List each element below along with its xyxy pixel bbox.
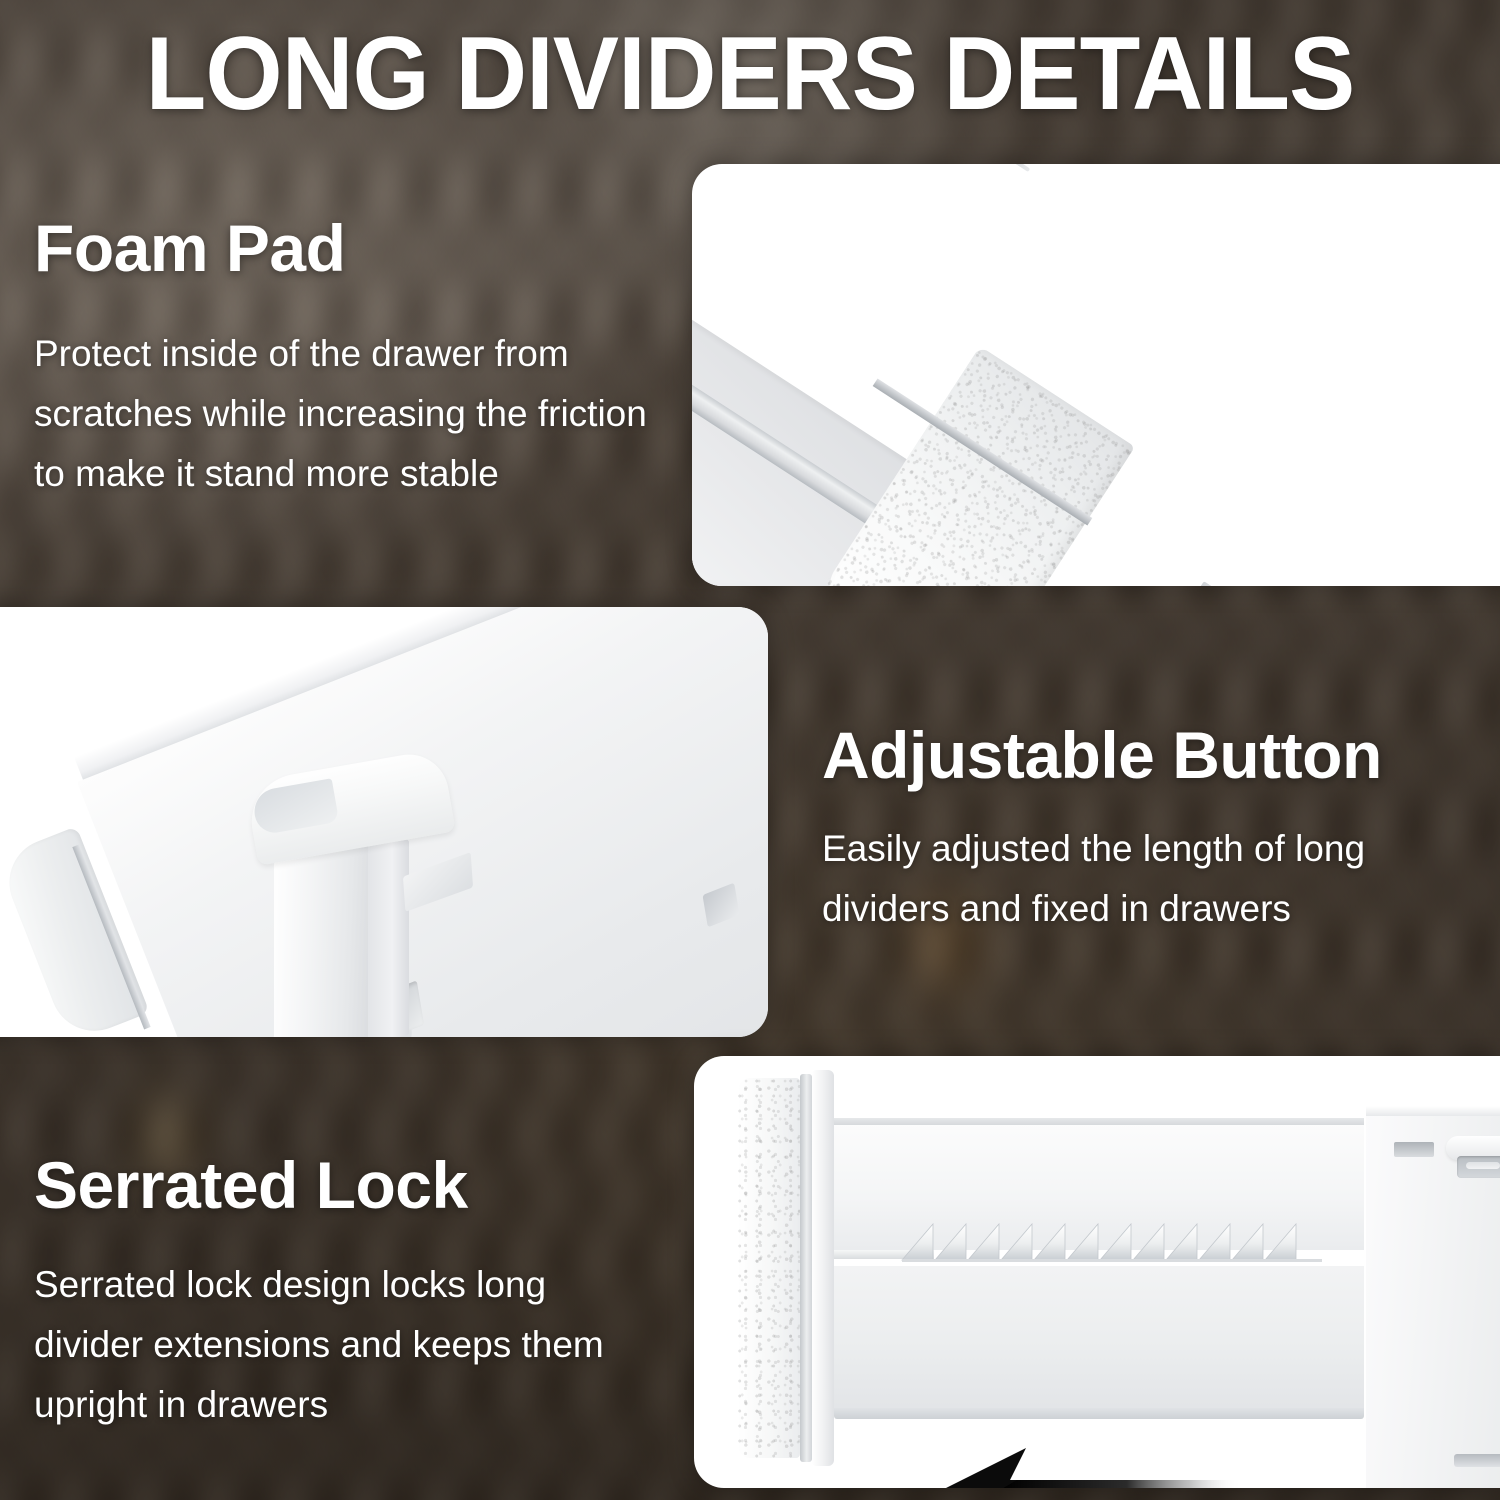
serrated-teeth-strip [902,1216,1322,1262]
feature-image-adjustable-button [0,607,768,1037]
feature-heading-serrated-lock: Serrated Lock [34,1152,654,1219]
foam-pad-backing-strip [812,1070,834,1466]
divider-channel-upper-edge [834,1118,1364,1125]
feature-body-adjustable-button: Easily adjusted the length of long divid… [822,819,1452,939]
arrow-left-icon [942,1448,1242,1488]
feature-text-serrated-lock: Serrated Lock Serrated lock design locks… [34,1152,654,1435]
feature-text-adjustable-button: Adjustable Button Easily adjusted the le… [822,722,1452,939]
feature-body-serrated-lock: Serrated lock design locks long divider … [34,1255,654,1435]
feature-image-serrated-lock [694,1056,1500,1488]
divider-extension-slot-bottom [1454,1454,1500,1467]
feature-text-foam-pad: Foam Pad Protect inside of the drawer fr… [34,215,654,504]
feature-heading-foam-pad: Foam Pad [34,215,654,282]
adjustable-button-post [274,833,368,1037]
foam-pad-seam-strip [800,1074,812,1462]
feature-image-foam-pad [692,164,1500,586]
feature-body-foam-pad: Protect inside of the drawer from scratc… [34,324,654,504]
feature-heading-adjustable-button: Adjustable Button [822,722,1452,789]
adjustable-button-recess-inner [1466,1162,1500,1169]
page-title: LONG DIVIDERS DETAILS [34,22,1467,126]
divider-extension-top-edge [1366,1106,1500,1116]
foam-pad-block-side [738,1078,800,1458]
foam-pad-illustration [692,164,1500,586]
foam-pad-texture [738,1078,800,1458]
serrated-lock-illustration [694,1056,1500,1488]
divider-extension-slot-top [1394,1142,1434,1157]
adjustable-button-post-side [367,839,409,1037]
divider-panel-slit [978,164,1030,172]
divider-channel-lower-plate [834,1266,1364,1414]
divider-channel-lower-edge [834,1408,1364,1419]
divider-panel-slot-lower [1198,581,1229,586]
adjustable-button-illustration [0,607,768,1037]
